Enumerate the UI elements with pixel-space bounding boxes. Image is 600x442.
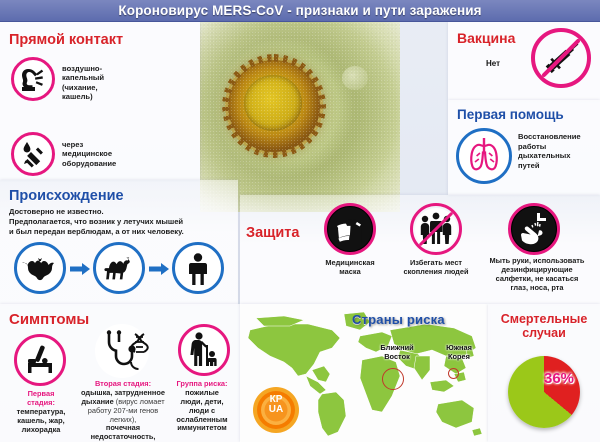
symptom-risk-caption: Группа риска: пожилые люди, дети, люди с… — [164, 380, 240, 433]
camel-icon — [93, 242, 145, 294]
stethoscope-dna-icon — [95, 324, 149, 378]
infographic-poster: Короновирус MERS-CoV - признаки и пути з… — [0, 0, 600, 442]
map-marker-south-korea — [448, 368, 459, 379]
section-protection: Защита Медицинская маска — [240, 195, 600, 304]
stage2-body-line2: дыхание — [81, 397, 113, 406]
vaccine-value: Нет — [486, 59, 500, 68]
vaccine-heading: Вакцина — [457, 30, 515, 46]
elderly-child-icon — [178, 324, 230, 376]
origin-line2: Предполагается, что возник у летучих мыш… — [9, 217, 234, 227]
section-first-aid: Первая помощь Восстановление работы дыха… — [448, 100, 600, 195]
contact1-line1: воздушно- — [62, 64, 150, 73]
first-aid-line2: работы — [518, 142, 598, 152]
first-aid-line4: путей — [518, 161, 598, 171]
mortality-pie-chart — [508, 356, 580, 428]
symptom-stage1-caption: Первая стадия: температура, кашель, жар,… — [2, 390, 80, 434]
contact1-line2: капельный — [62, 73, 150, 82]
map-label-south-korea: Южная Корея — [436, 344, 482, 361]
mortality-heading-line1: Смертельные — [488, 312, 600, 326]
page-title: Короновирус MERS-CoV - признаки и пути з… — [118, 3, 481, 18]
direct-contact-heading: Прямой контакт — [9, 32, 123, 48]
protect2-line2: скопления людей — [398, 268, 474, 277]
contact1-line4: кашель) — [62, 92, 150, 101]
syringe-drop-icon — [11, 132, 55, 176]
bat-icon — [14, 242, 66, 294]
risk-body-line5: иммунитетом — [164, 424, 240, 433]
me-line2: Восток — [368, 353, 426, 362]
direct-contact-text-1: воздушно- капельный (чихание, кашель) — [62, 64, 150, 101]
section-vaccine: Вакцина Нет — [448, 22, 600, 100]
face-mask-icon — [324, 203, 376, 255]
stage2-thin-line1: (вирус ломает — [116, 397, 165, 406]
map-label-middle-east: Ближний Восток — [368, 344, 426, 361]
contact2-line1: через — [62, 140, 158, 149]
first-aid-heading: Первая помощь — [457, 107, 564, 122]
background-blob — [342, 66, 368, 90]
symptoms-heading: Симптомы — [9, 311, 89, 328]
poster-title-bar: Короновирус MERS-CoV - признаки и пути з… — [0, 0, 600, 22]
first-aid-text: Восстановление работы дыхательных путей — [518, 132, 598, 171]
watermark-line2: UA — [252, 405, 300, 415]
protection-heading: Защита — [246, 225, 299, 241]
protection-caption-2: Избегать мест скопления людей — [398, 259, 474, 277]
first-aid-line3: дыхательных — [518, 151, 598, 161]
sk-line2: Корея — [436, 353, 482, 362]
contact2-line2: медицинское — [62, 149, 158, 158]
arrow-right-icon — [70, 262, 90, 281]
first-aid-line1: Восстановление — [518, 132, 598, 142]
section-mortality: Смертельные случаи 36% — [488, 304, 600, 442]
protection-caption-1: Медицинская маска — [314, 259, 386, 277]
stage1-body-line3: лихорадка — [2, 426, 80, 435]
origin-line1: Достоверно не известно. — [9, 207, 234, 217]
risk-countries-heading: Страны риска — [352, 312, 445, 327]
section-symptoms: Симптомы Первая стадия: температура, каш… — [0, 304, 240, 442]
protection-caption-3: Мыть руки, использовать дезинфицирующие … — [478, 257, 596, 293]
symptom-stage2-caption: Вторая стадия: одышка, затрудненное дыха… — [74, 380, 172, 442]
map-marker-middle-east — [382, 368, 404, 390]
contact1-line3: (чихание, — [62, 83, 150, 92]
kp-ua-watermark-logo: КР UA — [252, 386, 300, 434]
wash-hands-icon — [508, 203, 560, 255]
mortality-heading: Смертельные случаи — [488, 312, 600, 341]
direct-contact-text-2: через медицинское оборудование — [62, 140, 158, 168]
section-direct-contact: Прямой контакт воздушно- капельный (чиха… — [0, 22, 200, 180]
virion-particle — [228, 60, 320, 152]
no-crowd-icon — [410, 203, 462, 255]
sneeze-cough-icon — [11, 57, 55, 101]
section-origin: Происхождение Достоверно не известно. Пр… — [0, 180, 238, 304]
origin-line3: и был передан верблюдам, а от них челове… — [9, 227, 234, 237]
thermometer-bed-icon — [14, 334, 66, 386]
origin-heading: Происхождение — [9, 188, 124, 204]
protect1-line2: маска — [314, 268, 386, 277]
lungs-icon — [456, 128, 512, 184]
human-icon — [172, 242, 224, 294]
section-risk-countries: Страны риска Ближний Восток Южная Корея — [240, 304, 488, 442]
world-map: Страны риска Ближний Восток Южная Корея — [240, 304, 488, 442]
arrow-right-icon — [149, 262, 169, 281]
mortality-percent-label: 36% — [544, 370, 574, 387]
contact2-line3: оборудование — [62, 159, 158, 168]
protect3-line4: глаз, носа, рта — [478, 284, 596, 293]
no-syringe-icon — [531, 28, 591, 88]
origin-text: Достоверно не известно. Предполагается, … — [9, 207, 234, 237]
mortality-heading-line2: случаи — [488, 326, 600, 340]
